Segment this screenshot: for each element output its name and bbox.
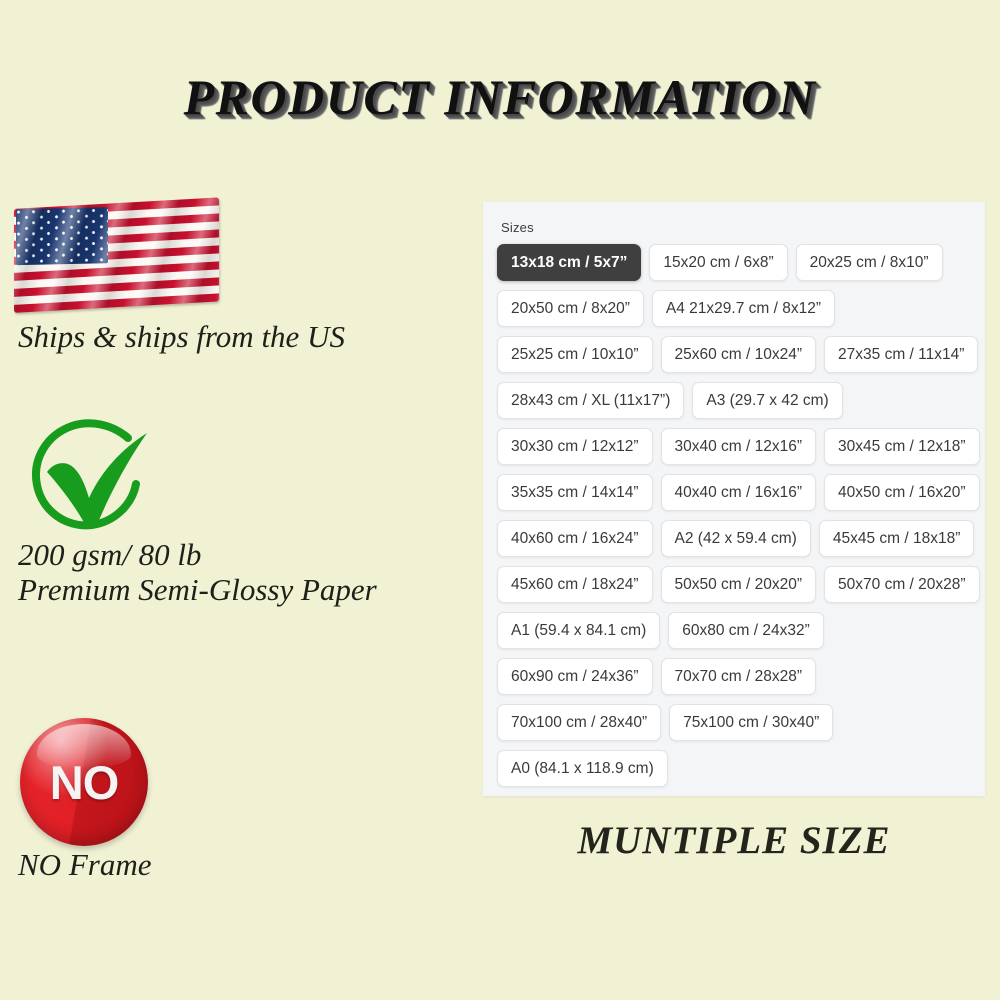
sizes-panel: Sizes 13x18 cm / 5x7”15x20 cm / 6x8”20x2… xyxy=(483,202,985,796)
size-chip[interactable]: A2 (42 x 59.4 cm) xyxy=(661,520,811,557)
size-chip[interactable]: 60x90 cm / 24x36” xyxy=(497,658,653,695)
size-chip[interactable]: 60x80 cm / 24x32” xyxy=(668,612,824,649)
size-chip[interactable]: 45x45 cm / 18x18” xyxy=(819,520,975,557)
size-chip[interactable]: 28x43 cm / XL (11x17”) xyxy=(497,382,684,419)
multiple-size-caption: MUNTIPLE SIZE xyxy=(483,818,985,863)
size-chip[interactable]: 40x50 cm / 16x20” xyxy=(824,474,980,511)
size-chip[interactable]: 70x100 cm / 28x40” xyxy=(497,704,661,741)
size-chip[interactable]: 30x30 cm / 12x12” xyxy=(497,428,653,465)
green-check-art xyxy=(0,408,470,538)
size-chip[interactable]: 40x60 cm / 16x24” xyxy=(497,520,653,557)
feature-ships-label: Ships & ships from the US xyxy=(0,320,470,355)
no-badge-icon: NO xyxy=(20,718,148,846)
page-title: PRODUCT INFORMATION xyxy=(0,68,1000,126)
feature-paper-label-line2: Premium Semi-Glossy Paper xyxy=(0,573,470,608)
size-chip[interactable]: 25x25 cm / 10x10” xyxy=(497,336,653,373)
size-chip[interactable]: 30x45 cm / 12x18” xyxy=(824,428,980,465)
size-chip[interactable]: 20x25 cm / 8x10” xyxy=(796,244,943,281)
size-chip[interactable]: 70x70 cm / 28x28” xyxy=(661,658,817,695)
no-badge-art: NO xyxy=(0,718,470,848)
size-chip[interactable]: A0 (84.1 x 118.9 cm) xyxy=(497,750,668,787)
size-chip[interactable]: 35x35 cm / 14x14” xyxy=(497,474,653,511)
size-chip[interactable]: A3 (29.7 x 42 cm) xyxy=(692,382,842,419)
sizes-label: Sizes xyxy=(501,220,534,235)
feature-no-frame: NO NO Frame xyxy=(0,718,470,883)
us-flag-icon xyxy=(14,195,224,315)
size-chip[interactable]: 50x70 cm / 20x28” xyxy=(824,566,980,603)
size-chip[interactable]: 50x50 cm / 20x20” xyxy=(661,566,817,603)
feature-no-frame-label: NO Frame xyxy=(0,848,470,883)
size-chip[interactable]: 13x18 cm / 5x7” xyxy=(497,244,641,281)
size-chip[interactable]: 45x60 cm / 18x24” xyxy=(497,566,653,603)
size-chip[interactable]: 25x60 cm / 10x24” xyxy=(661,336,817,373)
size-chip[interactable]: 20x50 cm / 8x20” xyxy=(497,290,644,327)
size-chip[interactable]: 27x35 cm / 11x14” xyxy=(824,336,978,373)
size-chip[interactable]: 30x40 cm / 12x16” xyxy=(661,428,817,465)
size-option-list: 13x18 cm / 5x7”15x20 cm / 6x8”20x25 cm /… xyxy=(497,244,985,787)
feature-paper-label-line1: 200 gsm/ 80 lb xyxy=(0,538,470,573)
us-flag-art xyxy=(0,190,470,320)
size-chip[interactable]: A4 21x29.7 cm / 8x12” xyxy=(652,290,835,327)
size-chip[interactable]: A1 (59.4 x 84.1 cm) xyxy=(497,612,660,649)
size-chip[interactable]: 75x100 cm / 30x40” xyxy=(669,704,833,741)
size-chip[interactable]: 40x40 cm / 16x16” xyxy=(661,474,817,511)
no-badge-text: NO xyxy=(50,759,119,806)
green-check-icon xyxy=(16,410,166,540)
size-chip[interactable]: 15x20 cm / 6x8” xyxy=(649,244,787,281)
feature-ships-from-us: Ships & ships from the US xyxy=(0,190,470,355)
feature-paper-quality: 200 gsm/ 80 lb Premium Semi-Glossy Paper xyxy=(0,408,470,607)
